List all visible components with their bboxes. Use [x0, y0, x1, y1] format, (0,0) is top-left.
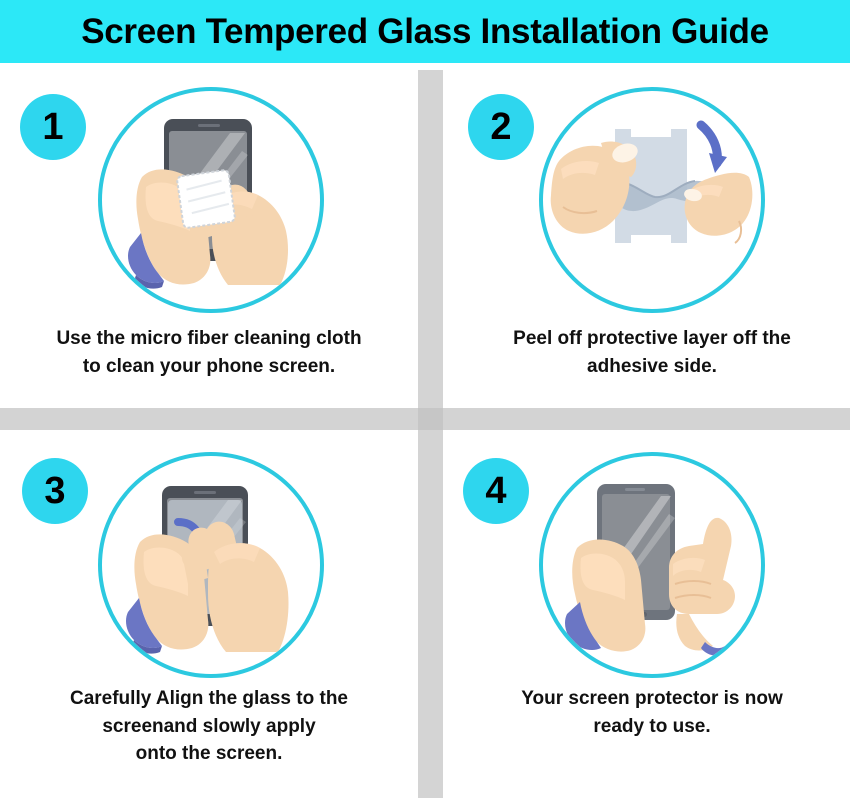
header-banner: Screen Tempered Glass Installation Guide — [0, 0, 850, 63]
thumbs-up-hand-graphic — [669, 518, 735, 656]
caption-line: screenand slowly apply — [8, 713, 410, 741]
step-panel-1: 1 — [0, 70, 418, 408]
step-number-badge-1: 1 — [20, 94, 86, 160]
caption-line: ready to use. — [451, 713, 850, 741]
step-number-badge-2: 2 — [468, 94, 534, 160]
page-title: Screen Tempered Glass Installation Guide — [81, 12, 769, 52]
caption-line: to clean your phone screen. — [8, 353, 410, 381]
caption-line: adhesive side. — [451, 353, 850, 381]
microfiber-cloth-graphic — [177, 170, 236, 229]
caption-line: Carefully Align the glass to the — [8, 685, 410, 713]
step-caption-4: Your screen protector is now ready to us… — [451, 685, 850, 740]
illustration-ready-thumbs-up — [543, 456, 761, 674]
divider-vertical — [418, 70, 443, 798]
infographic-page: Screen Tempered Glass Installation Guide… — [0, 0, 850, 798]
step-caption-2: Peel off protective layer off the adhesi… — [451, 325, 850, 380]
caption-line: Peel off protective layer off the — [451, 325, 850, 353]
step-number-badge-4: 4 — [463, 458, 529, 524]
step-panel-2: 2 — [443, 70, 850, 408]
step-caption-3: Carefully Align the glass to the screena… — [8, 685, 410, 768]
step-illustration-circle-4 — [539, 452, 765, 678]
caption-line: Your screen protector is now — [451, 685, 850, 713]
step-illustration-circle-3 — [98, 452, 324, 678]
step-illustration-circle-1 — [98, 87, 324, 313]
peel-direction-arrow-icon — [701, 125, 727, 173]
step-number-badge-3: 3 — [22, 458, 88, 524]
illustration-peel-film — [543, 91, 761, 309]
illustration-clean-screen — [102, 91, 320, 309]
caption-line: onto the screen. — [8, 740, 410, 768]
step-illustration-circle-2 — [539, 87, 765, 313]
illustration-align-glass — [102, 456, 320, 674]
step-panel-4: 4 — [443, 440, 850, 778]
step-caption-1: Use the micro fiber cleaning cloth to cl… — [8, 325, 410, 380]
divider-intersection — [418, 408, 443, 430]
caption-line: Use the micro fiber cleaning cloth — [8, 325, 410, 353]
step-panel-3: 3 — [0, 440, 418, 778]
